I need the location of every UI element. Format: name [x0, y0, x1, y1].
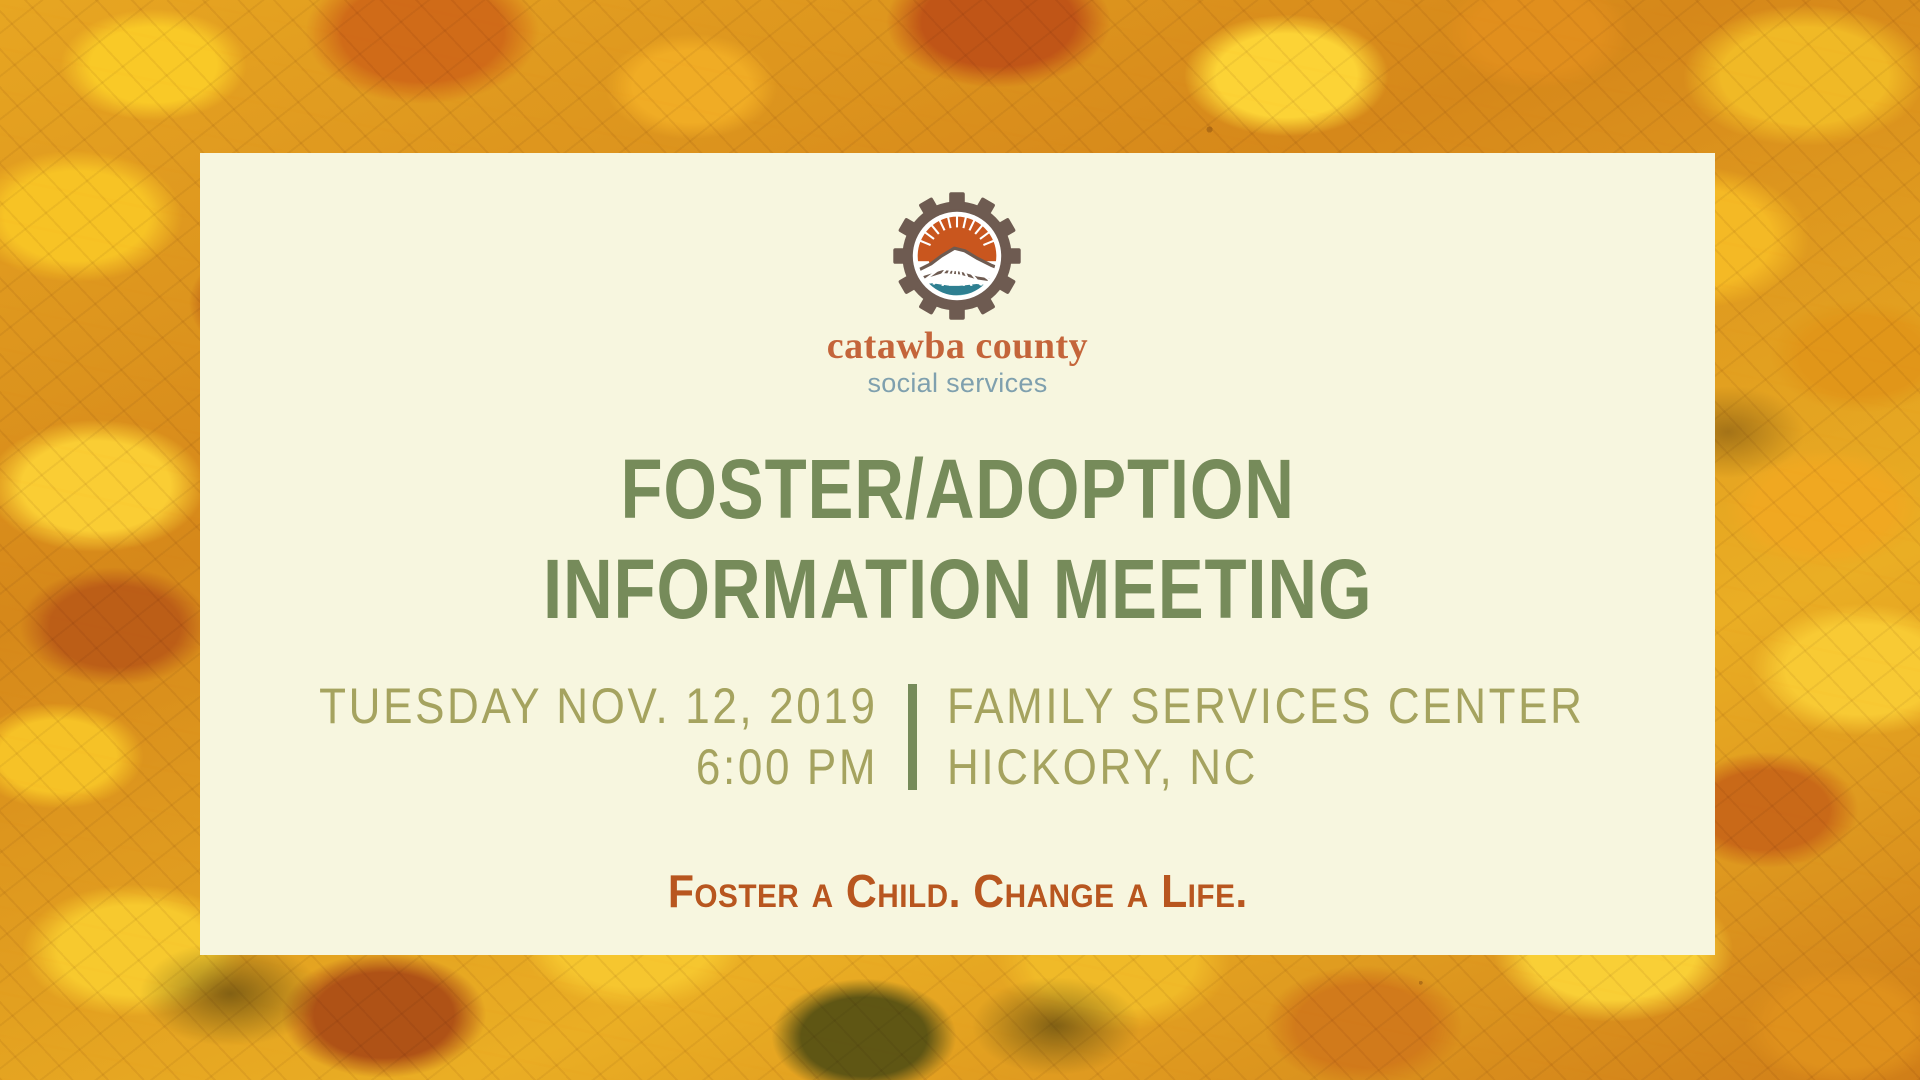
event-date: TUESDAY NOV. 12, 2019 [320, 676, 878, 737]
event-city-state: HICKORY, NC [947, 737, 1258, 798]
logo-subword-social-services: social services [867, 370, 1047, 397]
event-time: 6:00 PM [696, 737, 878, 798]
event-title-line-2: INFORMATION MEETING [543, 547, 1372, 633]
event-title: FOSTER/ADOPTION INFORMATION MEETING [452, 447, 1463, 632]
event-datetime-block: TUESDAY NOV. 12, 2019 6:00 PM [243, 676, 878, 798]
event-venue: FAMILY SERVICES CENTER [947, 676, 1585, 737]
logo-wordmark-catawba-county: catawba county [827, 327, 1088, 365]
organization-logo: catawba county social services [827, 191, 1088, 397]
content-card: catawba county social services FOSTER/AD… [200, 153, 1715, 955]
event-details: TUESDAY NOV. 12, 2019 6:00 PM FAMILY SER… [243, 676, 1671, 798]
details-divider [908, 684, 917, 790]
event-flyer: catawba county social services FOSTER/AD… [0, 0, 1920, 1080]
event-location-block: FAMILY SERVICES CENTER HICKORY, NC [947, 676, 1672, 798]
event-title-line-1: FOSTER/ADOPTION [543, 447, 1372, 533]
event-tagline: Foster a Child. Change a Life. [668, 864, 1248, 918]
catawba-county-gear-seal-icon [892, 191, 1022, 321]
